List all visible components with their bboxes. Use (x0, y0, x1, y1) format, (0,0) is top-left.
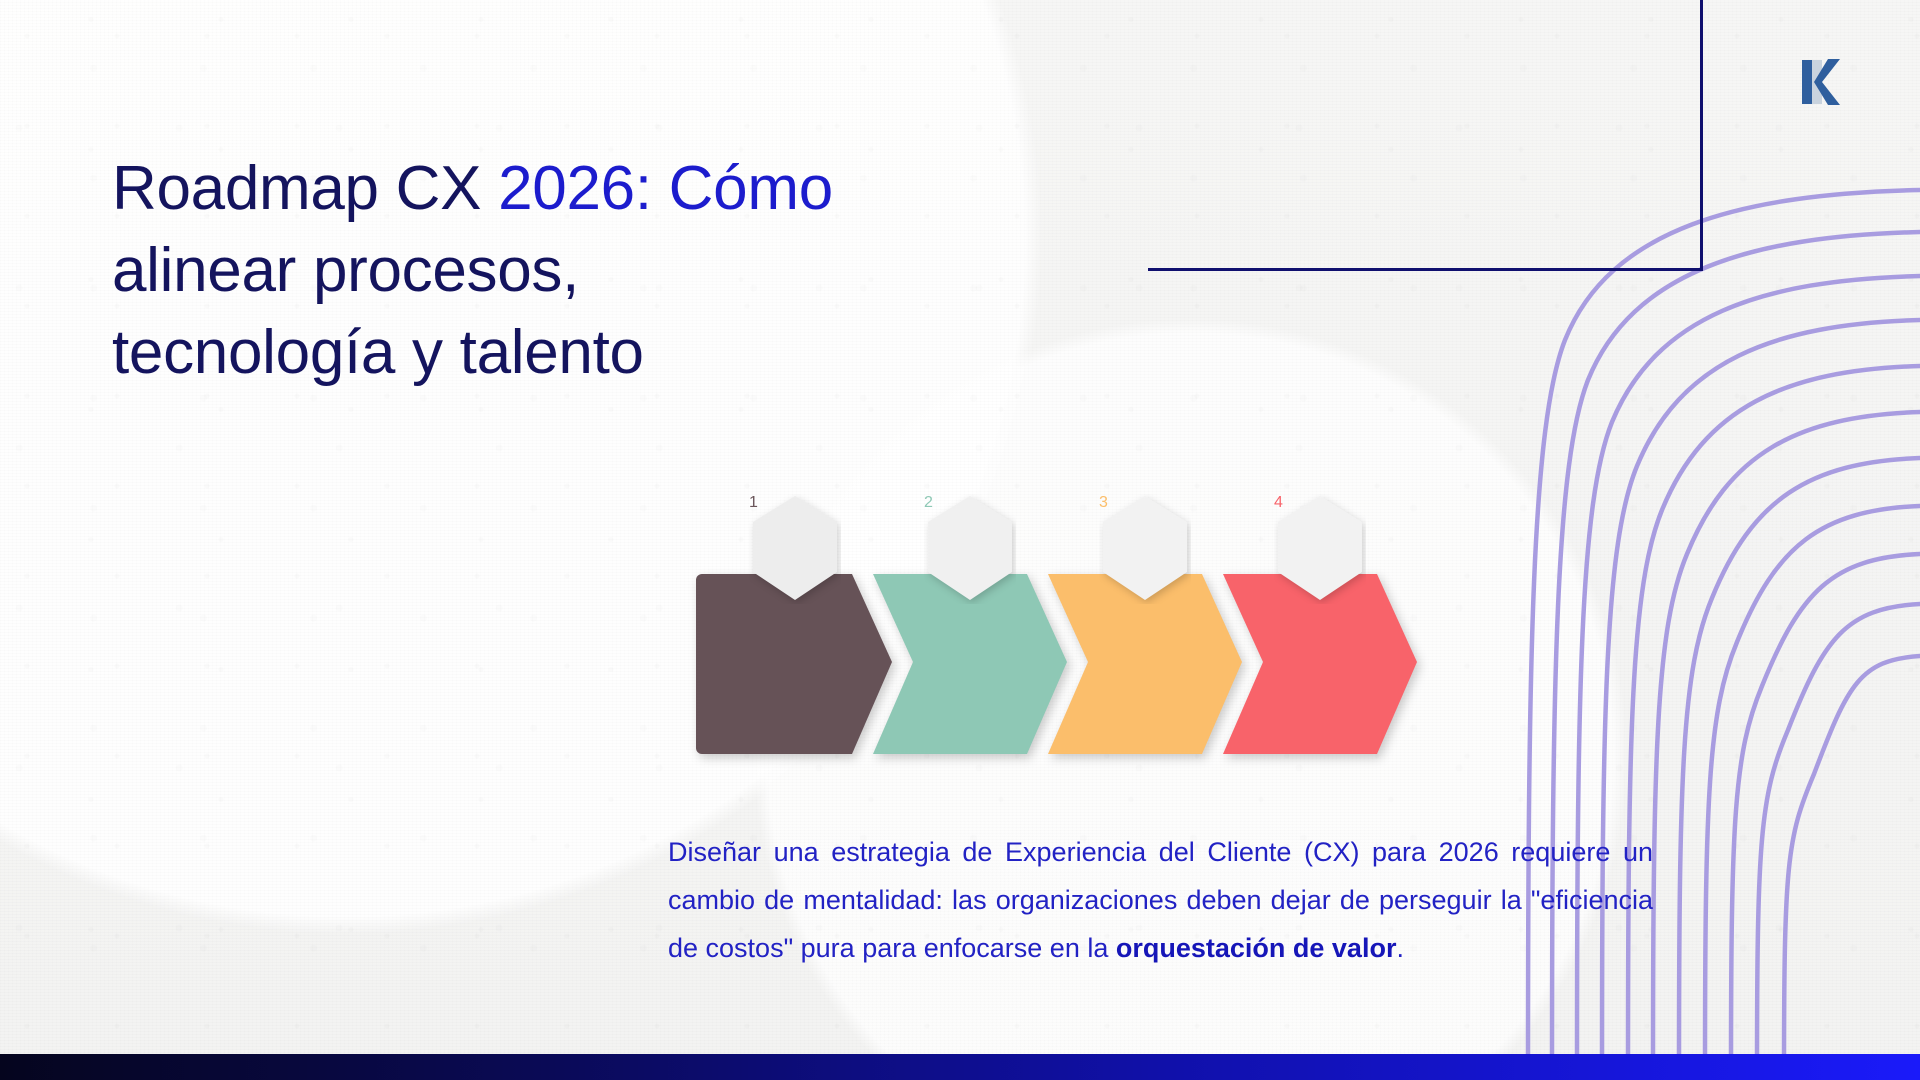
chevron-step-4[interactable]: 4 (1219, 566, 1421, 762)
frame-horizontal-line (1148, 268, 1703, 271)
title-line1-plain: Roadmap CX (112, 154, 498, 223)
step-number-2: 2 (924, 494, 1016, 604)
paragraph-bold-phrase: orquestación de valor (1116, 933, 1397, 963)
slide-canvas: Roadmap CX 2026: Cómo alinear procesos, … (0, 0, 1920, 1080)
title-line3: tecnología y talento (112, 318, 644, 387)
step-number-3: 3 (1099, 494, 1191, 604)
frame-vertical-line (1700, 0, 1703, 270)
step-number-4: 4 (1274, 494, 1366, 604)
page-title: Roadmap CX 2026: Cómo alinear procesos, … (112, 148, 1072, 393)
paragraph-text-part2: . (1396, 933, 1404, 963)
chevron-step-2[interactable]: 2 (869, 566, 1071, 762)
chevron-step-3[interactable]: 3 (1044, 566, 1246, 762)
title-line2: alinear procesos, (112, 236, 579, 305)
chevron-step-1[interactable]: 1 (694, 566, 896, 762)
process-chevron-row: 1 2 3 4 (694, 566, 1574, 766)
step-number-1: 1 (749, 494, 841, 604)
title-line1-highlight: 2026: Cómo (498, 154, 833, 223)
bottom-accent-bar (0, 1054, 1920, 1080)
k-logo-icon (1800, 55, 1842, 109)
body-paragraph: Diseñar una estrategia de Experiencia de… (668, 828, 1653, 972)
